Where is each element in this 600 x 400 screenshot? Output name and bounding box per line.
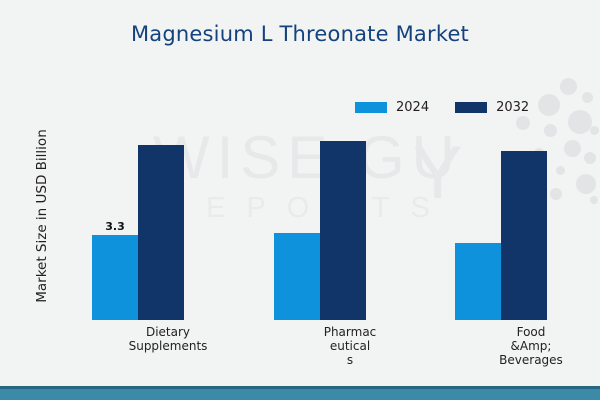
legend-item-2024[interactable]: 2024 bbox=[355, 100, 429, 115]
x-tick-line: Beverages bbox=[479, 353, 583, 367]
bar-2032-pharmaceuticals[interactable] bbox=[320, 141, 366, 320]
x-tick-label-food-beverages: Food &Amp; Beverages bbox=[479, 325, 583, 367]
footer-band bbox=[0, 386, 600, 400]
bar-2024-pharmaceuticals[interactable] bbox=[274, 233, 320, 320]
x-tick-line: Pharmac bbox=[298, 325, 402, 339]
chart-title: Magnesium L Threonate Market bbox=[0, 22, 600, 46]
legend-swatch-2024 bbox=[355, 102, 387, 113]
legend-label-2024: 2024 bbox=[396, 100, 429, 115]
chart-figure: WISE GU REPORTS Y Magnesium L Threonate … bbox=[0, 0, 600, 400]
bar-2032-dietary-supplements[interactable] bbox=[138, 145, 184, 320]
bar-2032-food-beverages[interactable] bbox=[501, 151, 547, 320]
x-tick-line: Supplements bbox=[116, 339, 220, 353]
bar-2024-food-beverages[interactable] bbox=[455, 243, 501, 320]
bar-2024-dietary-supplements[interactable]: 3.3 bbox=[92, 235, 138, 320]
legend-item-2032[interactable]: 2032 bbox=[455, 100, 529, 115]
x-tick-line: eutical bbox=[298, 339, 402, 353]
x-tick-line: &Amp; bbox=[479, 339, 583, 353]
x-tick-label-pharmaceuticals: Pharmac eutical s bbox=[298, 325, 402, 367]
legend-label-2032: 2032 bbox=[496, 100, 529, 115]
x-tick-line: Dietary bbox=[116, 325, 220, 339]
plot-area: 3.3 bbox=[62, 128, 592, 320]
x-tick-label-dietary-supplements: Dietary Supplements bbox=[116, 325, 220, 353]
x-tick-line: Food bbox=[479, 325, 583, 339]
chart-legend: 2024 2032 bbox=[355, 100, 529, 115]
x-tick-line: s bbox=[298, 353, 402, 367]
legend-swatch-2032 bbox=[455, 102, 487, 113]
y-axis-label: Market Size in USD Billion bbox=[34, 111, 50, 321]
bar-value-2024-dietary-supplements: 3.3 bbox=[92, 220, 138, 233]
